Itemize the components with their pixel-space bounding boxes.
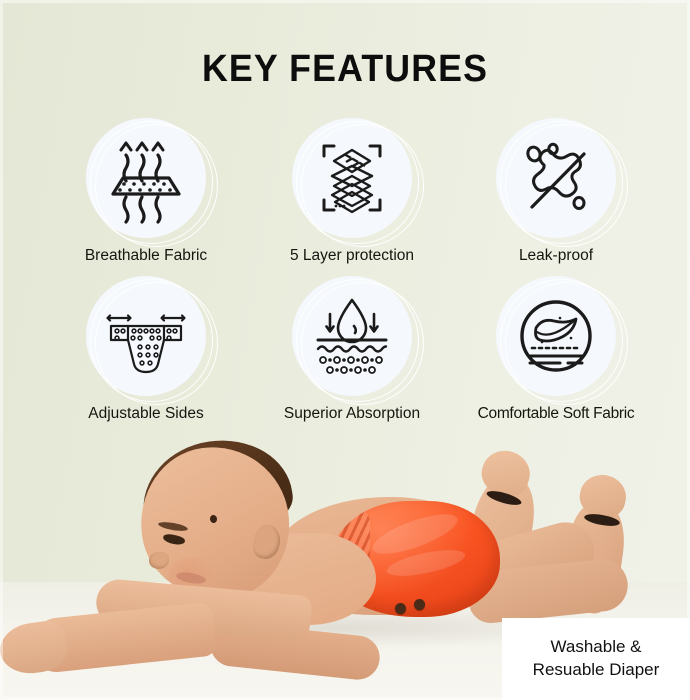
layers-protection-icon <box>292 118 412 238</box>
feature-icon-badge <box>292 118 412 238</box>
diaper-snap-button <box>414 599 425 610</box>
feature-breathable-fabric[interactable]: Breathable Fabric <box>43 118 249 265</box>
feature-leak-proof[interactable]: Leak-proof <box>453 118 659 265</box>
product-feature-poster: KEY FEATURES <box>0 0 690 700</box>
leak-proof-icon <box>496 118 616 238</box>
feature-icon-badge <box>86 118 206 238</box>
page-title: KEY FEATURES <box>21 48 670 91</box>
feature-superior-absorption[interactable]: Superior Absorption <box>249 276 455 423</box>
feature-row: Adjustable Sides <box>0 276 690 434</box>
feature-label: Comfortable Soft Fabric <box>453 405 659 423</box>
feature-icon-badge <box>292 276 412 396</box>
adjustable-diaper-icon <box>86 276 206 396</box>
feature-label: Superior Absorption <box>249 405 455 423</box>
caption-text: Washable & Resuable Diaper <box>533 636 660 682</box>
feature-adjustable-sides[interactable]: Adjustable Sides <box>43 276 249 423</box>
caption-line-2: Resuable Diaper <box>533 659 660 682</box>
caption-line-1: Washable & <box>533 636 660 659</box>
feature-comfortable-soft-fabric[interactable]: Comfortable Soft Fabric <box>453 276 659 423</box>
absorption-droplet-icon <box>292 276 412 396</box>
breathable-fabric-icon <box>86 118 206 238</box>
feature-label: Leak-proof <box>453 247 659 265</box>
feature-icon-badge <box>496 118 616 238</box>
feature-grid: Breathable Fabric <box>0 118 690 434</box>
feature-row: Breathable Fabric <box>0 118 690 276</box>
diaper-snap-button <box>395 603 406 614</box>
feature-icon-badge <box>496 276 616 396</box>
caption-box: Washable & Resuable Diaper <box>502 618 690 700</box>
feature-label: Adjustable Sides <box>43 405 249 423</box>
feature-5-layer-protection[interactable]: 5 Layer protection <box>249 118 455 265</box>
feature-label: 5 Layer protection <box>249 247 455 265</box>
feather-soft-icon <box>496 276 616 396</box>
feature-label: Breathable Fabric <box>43 247 249 265</box>
feature-icon-badge <box>86 276 206 396</box>
